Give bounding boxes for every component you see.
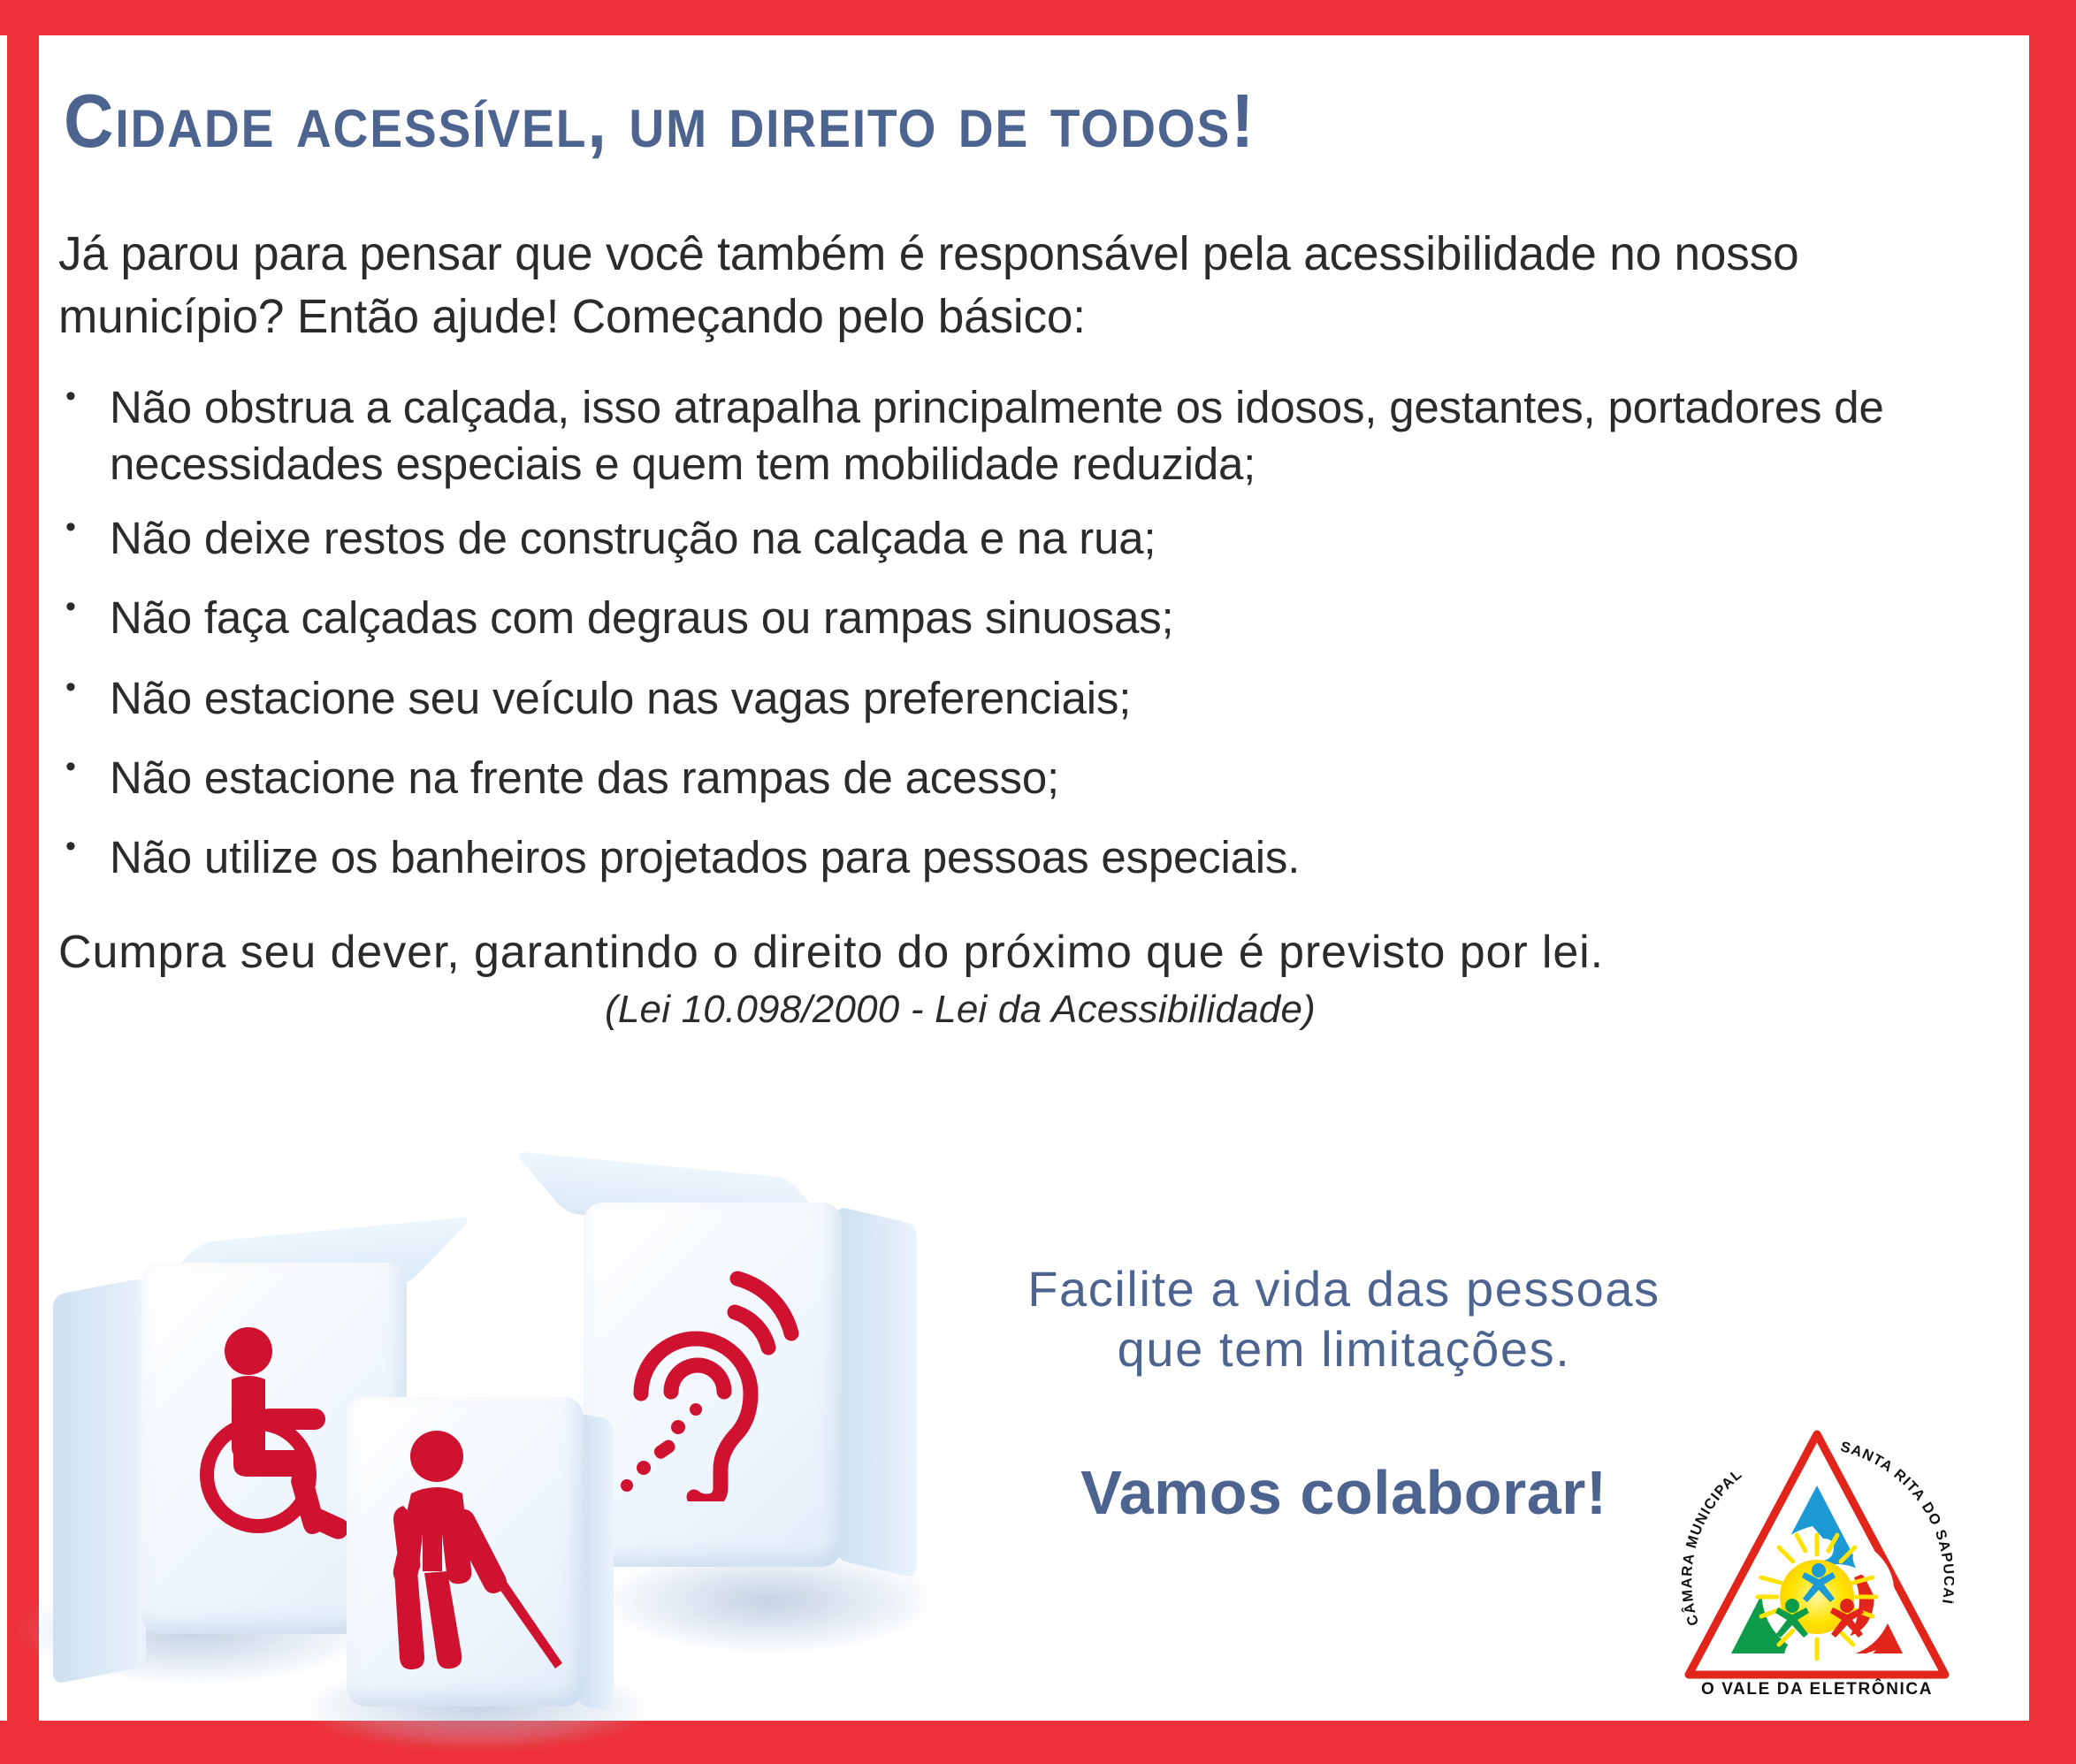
frame-border-left [7,0,39,1764]
slogan-text: Facilite a vida das pessoas que tem limi… [964,1259,1724,1380]
frame-border-top [0,0,2076,35]
frame-border-bottom [0,1721,2076,1764]
logo-baseline-text: O VALE DA ELETRÔNICA [1701,1679,1933,1699]
list-item: Não deixe restos de construção na calçad… [58,510,1924,567]
logo-arc-left-text: CÂMARA MUNICIPAL [1680,1466,1745,1628]
list-item: Não estacione seu veículo nas vagas pref… [58,670,1924,727]
closing-paragraph: Cumpra seu dever, garantindo o direito d… [58,925,1924,980]
list-item: Não estacione na frente das rampas de ac… [58,750,1924,806]
blind-person-with-cane-icon [382,1428,572,1680]
law-reference: (Lei 10.098/2000 - Lei da Acessibilidade… [58,988,1862,1032]
call-to-action: Vamos colaborar! [964,1457,1724,1528]
cube-left-face [53,1278,146,1684]
cube-right-face [836,1206,917,1578]
frame-border-right [2029,0,2076,1764]
svg-text:CÂMARA MUNICIPAL: CÂMARA MUNICIPAL [1680,1466,1745,1628]
municipal-logo: CÂMARA MUNICIPAL SANTA RITA DO SAPUCAÍ O… [1680,1422,1954,1705]
rules-list: Não obstrua a calçada, isso atrapalha pr… [58,379,1924,887]
hearing-impaired-ear-icon [614,1245,827,1501]
poster-body: Já parou para pensar que você também é r… [58,223,1924,1032]
page-title: Cidade acessível, um direito de todos! [64,84,1772,159]
intro-paragraph: Já parou para pensar que você também é r… [58,223,1896,349]
slogan-line-1: Facilite a vida das pessoas [964,1259,1724,1319]
accessibility-icon-cubes [35,1132,946,1715]
accessibility-poster: Cidade acessível, um direito de todos! J… [0,0,2076,1764]
wheelchair-icon [193,1325,370,1546]
list-item: Não utilize os banheiros projetados para… [58,829,1924,886]
list-item: Não obstrua a calçada, isso atrapalha pr… [58,379,1924,493]
slogan-line-2: que tem limitações. [964,1319,1724,1379]
list-item: Não faça calçadas com degraus ou rampas … [58,590,1924,646]
